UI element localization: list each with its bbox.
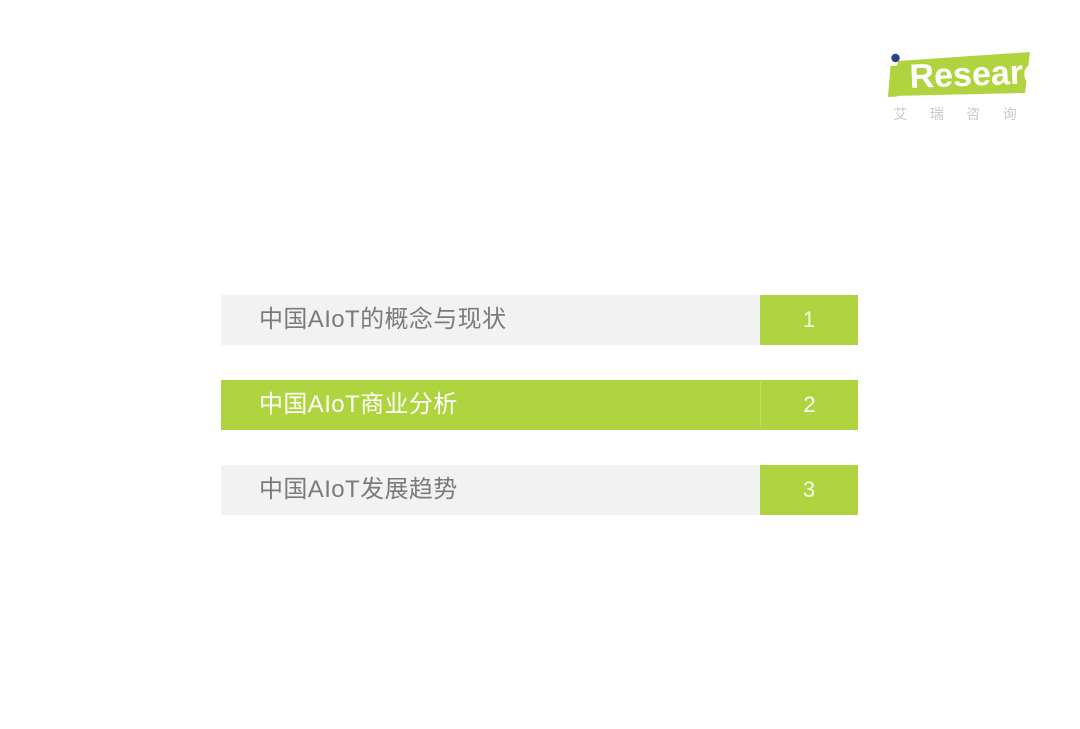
logo-wordmark-icon: Research — [880, 48, 1032, 100]
svg-text:Research: Research — [909, 52, 1032, 96]
agenda-list: 中国AIoT的概念与现状 1 中国AIoT商业分析 2 中国AIoT发展趋势 3 — [221, 295, 858, 515]
agenda-item-2-label: 中国AIoT商业分析 — [221, 380, 760, 430]
logo-subtitle: 艾 瑞 咨 询 — [882, 104, 1028, 124]
agenda-item-2-number: 2 — [760, 380, 858, 430]
agenda-item-1-number: 1 — [760, 295, 858, 345]
iresearch-logo: Research 艾 瑞 咨 询 — [880, 48, 1032, 130]
agenda-item-3-number: 3 — [760, 465, 858, 515]
agenda-item-3-label: 中国AIoT发展趋势 — [221, 465, 760, 515]
logo-mark: Research — [880, 48, 1032, 100]
agenda-item-1[interactable]: 中国AIoT的概念与现状 1 — [221, 295, 858, 345]
agenda-item-1-label: 中国AIoT的概念与现状 — [221, 295, 760, 345]
slide-canvas: Research 艾 瑞 咨 询 中国AIoT的概念与现状 1 中国AIoT商业… — [0, 0, 1080, 729]
agenda-item-2[interactable]: 中国AIoT商业分析 2 — [221, 380, 858, 430]
agenda-item-3[interactable]: 中国AIoT发展趋势 3 — [221, 465, 858, 515]
